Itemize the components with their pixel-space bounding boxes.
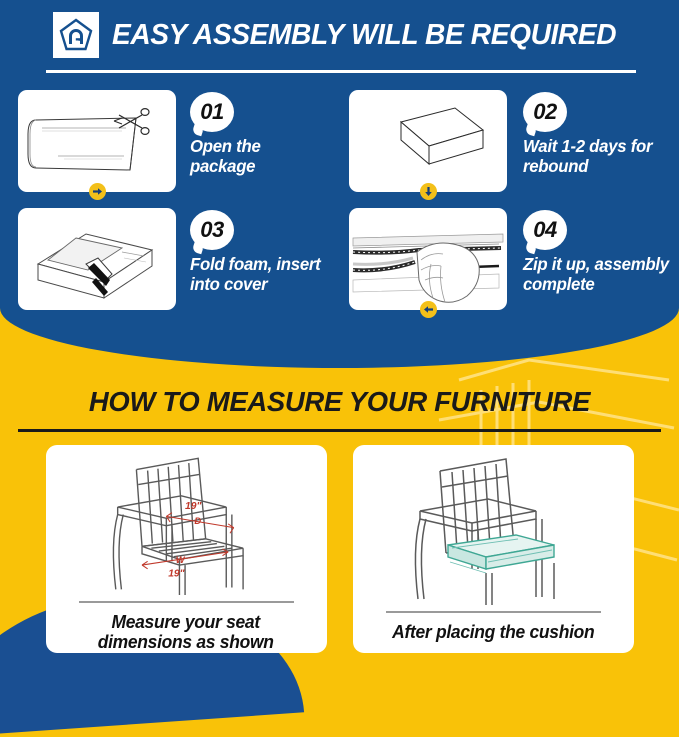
assembly-steps-grid: 01 Open the package 02 [0,90,679,326]
svg-text:19": 19" [168,568,184,579]
step-02-text: 02 Wait 1-2 days for rebound [523,90,658,176]
house-pentagon-icon [53,12,99,58]
svg-text:19": 19" [185,501,201,512]
fold-foam-into-cover-icon [18,208,176,310]
assembly-panel: EASY ASSEMBLY WILL BE REQUIRED [0,0,679,368]
measure-card-2-caption: After placing the cushion [392,622,594,643]
assembly-header: EASY ASSEMBLY WILL BE REQUIRED [0,6,679,64]
page-title: EASY ASSEMBLY WILL BE REQUIRED [112,19,616,52]
measure-cards-row: 19" D W 19" Measure your seat dimensions… [0,445,679,660]
assembly-step-04: 04 Zip it up, assembly complete [340,208,679,326]
svg-text:D: D [194,516,201,526]
step-03-number-badge: 03 [190,210,234,250]
step-04-label: Zip it up, assembly complete [523,255,669,294]
step-02-number-badge: 02 [523,92,567,132]
arrow-down-icon [420,183,437,200]
measure-panel: HOW TO MEASURE YOUR FURNITURE [0,330,679,679]
card-divider [386,611,601,613]
step-04-text: 04 Zip it up, assembly complete [523,208,675,294]
measure-card-cushion: After placing the cushion [353,445,634,653]
measure-title: HOW TO MEASURE YOUR FURNITURE [7,386,672,418]
step-04-number-badge: 04 [523,210,567,250]
assembly-step-01: 01 Open the package [0,90,340,208]
chair-with-cushion-icon [368,449,618,609]
arrow-left-icon [420,301,437,318]
measure-card-1-caption: Measure your seat dimensions as shown [98,612,274,653]
assembly-step-02: 02 Wait 1-2 days for rebound [340,90,679,208]
hand-zipping-cushion-icon [349,208,507,310]
svg-text:W: W [176,555,186,565]
measure-divider [18,429,661,432]
step-03-text: 03 Fold foam, insert into cover [190,208,326,294]
step-03-label: Fold foam, insert into cover [190,255,320,294]
package-with-scissors-icon [18,90,176,192]
step-01-label: Open the package [190,137,261,176]
arrow-right-icon [89,183,106,200]
card-divider [79,601,294,603]
assembly-step-03: 03 Fold foam, insert into cover [0,208,340,326]
step-01-number-badge: 01 [190,92,234,132]
step-04-illustration-card [349,208,507,310]
step-02-illustration-card [349,90,507,192]
header-divider [46,70,636,73]
step-01-illustration-card [18,90,176,192]
foam-slab-icon [349,90,507,192]
measure-card-dimensions: 19" D W 19" Measure your seat dimensions… [46,445,327,653]
step-03-illustration-card [18,208,176,310]
chair-with-dimensions-icon: 19" D W 19" [61,449,311,599]
step-02-label: Wait 1-2 days for rebound [523,137,652,176]
step-01-text: 01 Open the package [190,90,263,176]
